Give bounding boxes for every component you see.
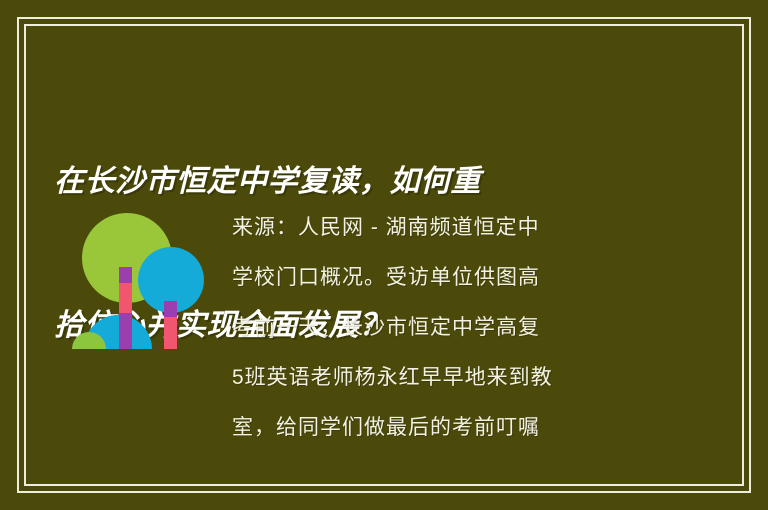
article-body: 来源：人民网 - 湖南频道恒定中 学校门口概况。受访单位供图高 考前一天，长沙市… <box>232 203 657 453</box>
trees-illustration <box>72 205 207 360</box>
body-line-5: 室，给同学们做最后的考前叮嘱 <box>232 403 657 453</box>
body-line-2: 学校门口概况。受访单位供图高 <box>232 253 657 303</box>
big-tree-trunk-purple-lower <box>119 313 132 349</box>
big-tree-trunk-pink-lower <box>119 283 132 313</box>
big-tree-trunk-purple-top <box>119 267 132 283</box>
body-line-3: 考前一天，长沙市恒定中学高复 <box>232 303 657 353</box>
body-line-4: 5班英语老师杨永红早早地来到教 <box>232 353 657 403</box>
poster-canvas: 在长沙市恒定中学复读，如何重 拾信心并实现全面发展？ 来源：人民网 - 湖南频道… <box>0 0 768 510</box>
body-line-1: 来源：人民网 - 湖南频道恒定中 <box>232 203 657 253</box>
small-tree-trunk-pink-lower <box>164 317 177 349</box>
small-tree-trunk-purple-top <box>164 301 177 317</box>
headline-line-1: 在长沙市恒定中学复读，如何重 <box>54 158 674 206</box>
